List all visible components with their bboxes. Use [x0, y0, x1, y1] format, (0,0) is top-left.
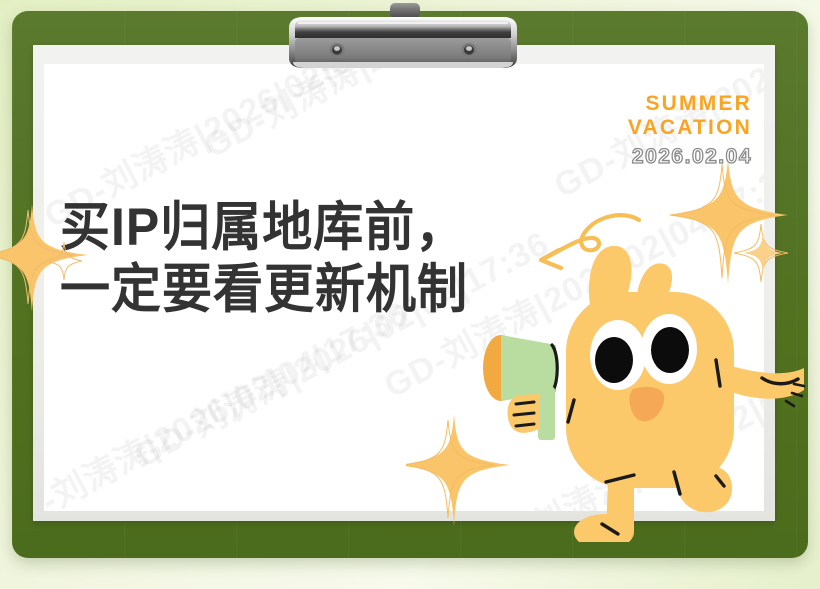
badge-line-summer: SUMMER [628, 92, 752, 116]
watermark-text: GD-刘涛涛|2026|02|04|17:36 [194, 64, 626, 167]
clipboard-clip-icon [285, 14, 521, 70]
poster-canvas: GD-刘涛涛|2026|02|04|17:36 GD-刘涛涛|2026|02|0… [0, 0, 820, 589]
badge-date: 2026.02.04 [628, 145, 752, 169]
headline-line-1: 买IP归属地库前， [60, 194, 468, 260]
headline-line-2: 一定要看更新机制 [60, 256, 468, 322]
summer-vacation-badge: SUMMER VACATION 2026.02.04 [628, 92, 752, 169]
page-title: 买IP归属地库前， 一定要看更新机制 [60, 196, 468, 320]
badge-line-vacation: VACATION [628, 116, 752, 140]
chick-mascot-icon [478, 232, 808, 547]
